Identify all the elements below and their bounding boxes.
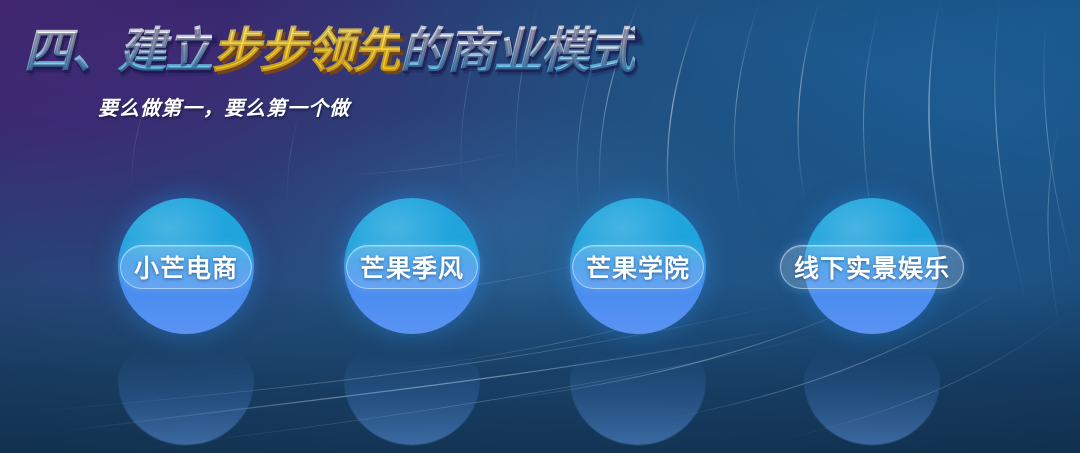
title-part-highlight: 步步领先: [212, 25, 400, 78]
node-pill-3[interactable]: 芒果学院: [572, 245, 704, 289]
page-title: 四、建立步步领先的商业模式: [24, 28, 635, 76]
node-reflection-4: [804, 337, 940, 445]
node-label-4: 线下实景娱乐: [794, 249, 950, 285]
slide-header: 四、建立步步领先的商业模式 要么做第一，要么第一个做: [24, 28, 635, 121]
node-reflection-1: [118, 337, 254, 445]
node-label-2: 芒果季风: [360, 249, 464, 285]
node-item-3[interactable]: 芒果学院: [570, 198, 706, 334]
page-subtitle: 要么做第一，要么第一个做: [98, 92, 635, 121]
node-pill-1[interactable]: 小芒电商: [120, 245, 252, 289]
node-item-2[interactable]: 芒果季风: [344, 198, 480, 334]
node-item-4[interactable]: 线下实景娱乐: [804, 198, 940, 334]
node-reflection-3: [570, 337, 706, 445]
slide-canvas: 四、建立步步领先的商业模式 要么做第一，要么第一个做 小芒电商 芒果季风 芒果学…: [0, 0, 1080, 453]
title-part-1: 四、建立: [24, 25, 212, 78]
node-pill-2[interactable]: 芒果季风: [346, 245, 478, 289]
node-label-3: 芒果学院: [586, 249, 690, 285]
title-part-3: 的商业模式: [400, 25, 635, 78]
node-label-1: 小芒电商: [134, 249, 238, 285]
node-pill-4[interactable]: 线下实景娱乐: [780, 245, 964, 289]
node-item-1[interactable]: 小芒电商: [118, 198, 254, 334]
node-reflection-2: [344, 337, 480, 445]
